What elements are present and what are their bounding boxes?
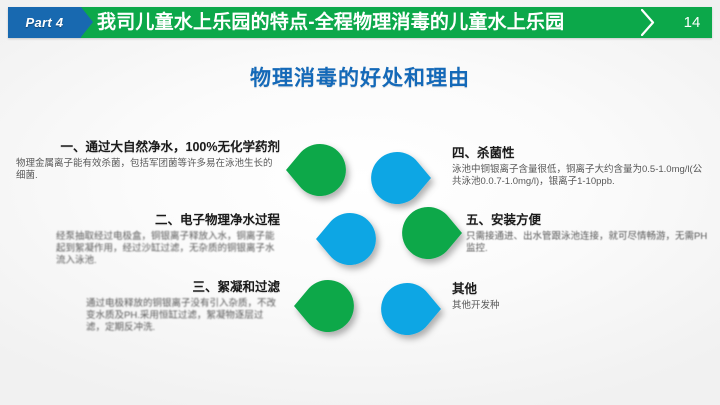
teardrop-two-icon [322,211,378,267]
benefit-item-three: 三、絮凝和过滤 通过电极释放的铜银离子没有引入杂质，不改变水质及PH.采用恒缸过… [86,280,280,334]
benefit-item-one: 一、通过大自然净水，100%无化学药剂 物理金属离子能有效杀菌，包括军团菌等许多… [16,140,280,182]
benefit-item-five: 五、安装方便 只需接通进、出水管跟泳池连接，就可尽情畅游，无需PH监控. [466,213,710,255]
teardrop-one-icon [292,142,348,198]
teardrop-six-icon [379,281,435,337]
benefit-one-body: 物理金属离子能有效杀菌，包括军团菌等许多易在泳池生长的细菌. [16,158,280,182]
benefit-four-heading: 四、杀菌性 [452,146,710,161]
benefit-two-body: 经泵抽取经过电极盒，铜银离子释放入水，铜离子能起到絮凝作用，经过沙缸过滤，无杂质… [56,231,280,267]
benefit-three-heading: 三、絮凝和过滤 [86,280,280,295]
teardrop-group [0,0,720,405]
benefit-item-six: 其他 其他开发种 [452,282,702,312]
benefit-item-two: 二、电子物理净水过程 经泵抽取经过电极盒，铜银离子释放入水，铜离子能起到絮凝作用… [56,213,280,267]
benefit-five-heading: 五、安装方便 [466,213,710,228]
benefit-six-heading: 其他 [452,282,702,297]
slide-canvas: Part 4 我司儿童水上乐园的特点-全程物理消毒的儿童水上乐园 14 物理消毒… [0,0,720,405]
benefit-six-body: 其他开发种 [452,300,702,312]
teardrop-three-icon [300,278,356,334]
benefit-five-body: 只需接通进、出水管跟泳池连接，就可尽情畅游，无需PH监控. [466,231,710,255]
benefit-one-heading: 一、通过大自然净水，100%无化学药剂 [16,140,280,155]
benefit-two-heading: 二、电子物理净水过程 [56,213,280,228]
benefit-three-body: 通过电极释放的铜银离子没有引入杂质，不改变水质及PH.采用恒缸过滤，絮凝物逐层过… [86,298,280,334]
teardrop-five-icon [400,205,456,261]
benefit-four-body: 泳池中铜银离子含量很低，铜离子大约含量为0.5-1.0mg/l(公共泳池0.0.… [452,164,710,188]
benefit-item-four: 四、杀菌性 泳池中铜银离子含量很低，铜离子大约含量为0.5-1.0mg/l(公共… [452,146,710,188]
teardrop-four-icon [369,150,425,206]
